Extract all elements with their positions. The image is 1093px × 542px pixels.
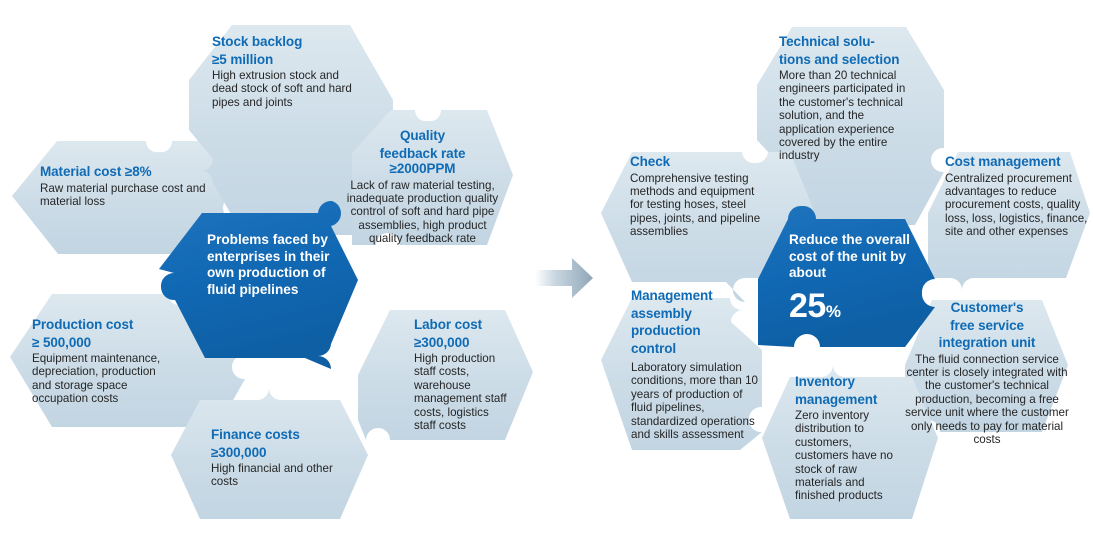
heading-stock-backlog-l1: Stock backlog: [212, 34, 352, 50]
heading-inventory-management-l2: management: [795, 392, 899, 408]
infographic-canvas: Material cost ≥8% Raw material purchase …: [0, 0, 1093, 542]
heading-management-assembly-l3: production: [631, 323, 766, 339]
text-management-assembly: Management assembly production control L…: [631, 288, 766, 441]
body-check: Comprehensive testing methods and equipm…: [630, 172, 770, 239]
text-customers-free-service: Customer's free service integration unit…: [903, 300, 1071, 446]
heading-management-assembly-l1: Management: [631, 288, 766, 304]
text-production-cost: Production cost ≥ 500,000 Equipment main…: [32, 317, 177, 406]
heading-inventory-management-l1: Inventory: [795, 374, 899, 390]
heading-customers-free-service-l1: Customer's: [903, 300, 1071, 316]
text-quality-feedback-rate: Quality feedback rate ≥2000PPM Lack of r…: [346, 128, 499, 246]
body-material-cost: Raw material purchase cost and material …: [40, 182, 212, 209]
body-customers-free-service: The fluid connection service center is c…: [903, 353, 1071, 447]
body-technical-solutions: More than 20 technical engineers partici…: [779, 69, 922, 163]
text-inventory-management: Inventory management Zero inventory dist…: [795, 374, 899, 503]
text-finance-costs: Finance costs ≥300,000 High financial an…: [211, 427, 336, 489]
heading-stock-backlog-l2: ≥5 million: [212, 52, 352, 68]
body-management-assembly: Laboratory simulation conditions, more t…: [631, 361, 766, 441]
heading-finance-costs-l2: ≥300,000: [211, 445, 336, 461]
core-problems-text: Problems faced by enterprises in their o…: [207, 232, 337, 298]
heading-material-cost: Material cost ≥8%: [40, 164, 212, 180]
heading-quality-feedback-l2: feedback rate ≥2000PPM: [346, 146, 499, 177]
heading-technical-solutions-l1: Technical solu-: [779, 34, 922, 50]
text-stock-backlog: Stock backlog ≥5 million High extrusion …: [212, 34, 352, 109]
body-stock-backlog: High extrusion stock and dead stock of s…: [212, 69, 352, 109]
body-inventory-management: Zero inventory distribution to customers…: [795, 409, 899, 503]
core-reduce-cost-label: Reduce the overall cost of the unit by a…: [789, 232, 914, 282]
body-cost-management: Centralized procurement advantages to re…: [945, 172, 1089, 239]
heading-technical-solutions-l2: tions and selection: [779, 52, 922, 68]
body-finance-costs: High financial and other costs: [211, 462, 336, 489]
heading-labor-cost-l1: Labor cost: [414, 317, 510, 333]
body-quality-feedback-rate: Lack of raw material testing, inadequate…: [346, 179, 499, 246]
heading-check: Check: [630, 154, 770, 170]
body-labor-cost: High production staff costs, warehouse m…: [414, 352, 510, 432]
text-material-cost: Material cost ≥8% Raw material purchase …: [40, 164, 212, 208]
core-reduce-cost-value: 25: [789, 287, 826, 325]
text-cost-management: Cost management Centralized procurement …: [945, 154, 1089, 239]
heading-finance-costs-l1: Finance costs: [211, 427, 336, 443]
core-reduce-cost-unit: %: [826, 302, 841, 321]
heading-quality-feedback-l1: Quality: [346, 128, 499, 144]
puzzle-hexagon-shapes: [0, 0, 1093, 542]
core-reduce-cost-value-row: 25%: [789, 288, 914, 324]
arrow-right-icon: [535, 258, 593, 298]
heading-cost-management: Cost management: [945, 154, 1089, 170]
text-check: Check Comprehensive testing methods and …: [630, 154, 770, 239]
heading-customers-free-service-l3: integration unit: [903, 335, 1071, 351]
heading-customers-free-service-l2: free service: [903, 318, 1071, 334]
heading-production-cost-l2: ≥ 500,000: [32, 335, 177, 351]
text-technical-solutions: Technical solu- tions and selection More…: [779, 34, 922, 163]
core-problems-label: Problems faced by enterprises in their o…: [207, 232, 337, 298]
heading-labor-cost-l2: ≥300,000: [414, 335, 510, 351]
core-reduce-cost-text: Reduce the overall cost of the unit by a…: [789, 232, 914, 324]
body-production-cost: Equipment maintenance, depreciation, pro…: [32, 352, 177, 406]
heading-production-cost-l1: Production cost: [32, 317, 177, 333]
heading-management-assembly-l4: control: [631, 341, 766, 357]
heading-management-assembly-l2: assembly: [631, 306, 766, 322]
text-labor-cost: Labor cost ≥300,000 High production staf…: [414, 317, 510, 432]
